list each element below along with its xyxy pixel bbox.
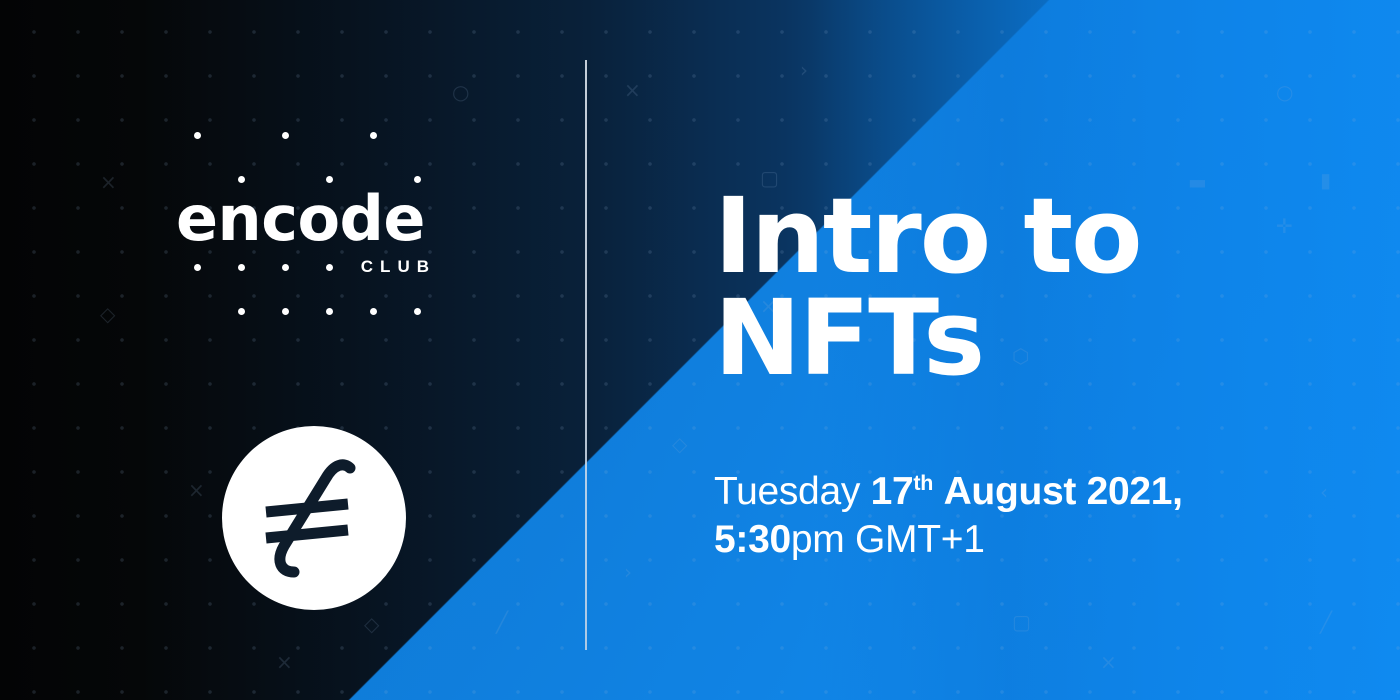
accent-dot [194,132,201,139]
event-datetime: Tuesday 17th August 2021,5:30pm GMT+1 [714,468,1374,563]
encode-club-logo: encode CLUB [176,190,438,277]
diamond-icon: ◇ [672,434,687,454]
accent-dot [238,264,245,271]
accent-dot [370,308,377,315]
event-day-ordinal: th [913,471,933,495]
event-banner: × × ○ ◇ ◇ ▢ × › › × ⬡ ○ ▮ ▬ ✛ ‹ ╱ ╱ × × … [0,0,1400,700]
brand-panel: encode CLUB [0,0,586,700]
accent-dot [414,176,421,183]
event-title-line-2: NFTs [714,288,1354,390]
club-subtitle: CLUB [176,257,436,277]
accent-dot [282,132,289,139]
accent-dot [370,132,377,139]
accent-dot [238,176,245,183]
cross-icon: × [624,80,641,100]
accent-dot [238,308,245,315]
encode-wordmark: encode [176,190,438,247]
accent-dot [414,308,421,315]
event-meridiem-zone: pm GMT+1 [791,518,985,561]
event-panel: Intro to NFTs Tuesday 17th August 2021,5… [714,0,1400,700]
filecoin-logo [222,426,406,610]
accent-dot [326,308,333,315]
accent-dot [326,176,333,183]
event-time: 5:30 [714,518,791,561]
event-weekday: Tuesday [714,470,860,513]
filecoin-glyph-icon [222,426,406,610]
event-month-year: August 2021, [944,470,1183,513]
chevron-right-icon: › [624,562,632,582]
accent-dot [194,264,201,271]
accent-dot [282,264,289,271]
event-title: Intro to NFTs [714,186,1354,390]
event-day: 17 [871,470,914,513]
accent-dot [282,308,289,315]
vertical-divider [585,60,587,650]
accent-dot [326,264,333,271]
